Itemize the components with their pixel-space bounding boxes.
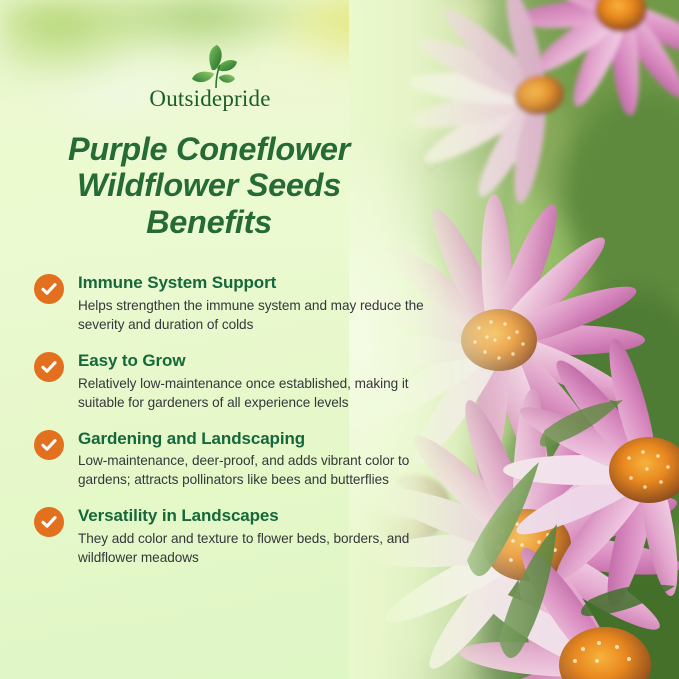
title-line-2: Wildflower Seeds bbox=[0, 167, 418, 203]
page-title: Purple Coneflower Wildflower Seeds Benef… bbox=[0, 131, 418, 240]
benefit-body: Helps strengthen the immune system and m… bbox=[78, 296, 426, 334]
benefit-item: Gardening and Landscaping Low-maintenanc… bbox=[34, 428, 426, 490]
title-line-3: Benefits bbox=[0, 204, 418, 240]
title-line-1: Purple Coneflower bbox=[0, 131, 418, 167]
brand-logo[interactable]: Outsidepride bbox=[0, 44, 420, 112]
infographic-poster: Outsidepride Purple Coneflower Wildflowe… bbox=[0, 0, 679, 679]
benefit-item: Immune System Support Helps strengthen t… bbox=[34, 272, 426, 334]
check-circle-icon bbox=[34, 352, 64, 382]
benefit-body: Low-maintenance, deer-proof, and adds vi… bbox=[78, 451, 426, 489]
benefit-item: Versatility in Landscapes They add color… bbox=[34, 505, 426, 567]
benefits-list: Immune System Support Helps strengthen t… bbox=[34, 272, 426, 583]
benefit-body: Relatively low-maintenance once establis… bbox=[78, 374, 426, 412]
benefit-heading: Easy to Grow bbox=[78, 351, 426, 372]
benefit-item: Easy to Grow Relatively low-maintenance … bbox=[34, 350, 426, 412]
brand-name: Outsidepride bbox=[0, 86, 420, 112]
benefit-body: They add color and texture to flower bed… bbox=[78, 529, 426, 567]
check-circle-icon bbox=[34, 430, 64, 460]
benefit-heading: Immune System Support bbox=[78, 273, 426, 294]
check-circle-icon bbox=[34, 274, 64, 304]
benefit-heading: Versatility in Landscapes bbox=[78, 506, 426, 527]
check-circle-icon bbox=[34, 507, 64, 537]
sprout-leaf-icon bbox=[177, 44, 243, 90]
benefit-heading: Gardening and Landscaping bbox=[78, 429, 426, 450]
